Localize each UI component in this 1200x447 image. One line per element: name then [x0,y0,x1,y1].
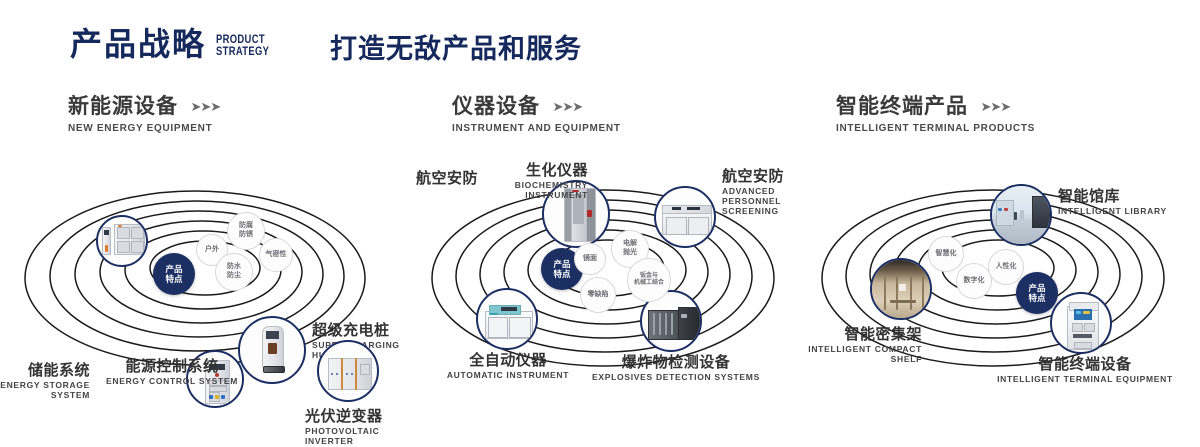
node-label-en: AUTOMATIC INSTRUMENT [428,371,588,381]
node-automatic-instrument[interactable] [476,288,538,350]
label-intelligent-terminal-equipment: 智能终端设备 INTELLIGENT TERMINAL EQUIPMENT [990,356,1180,385]
intelligent-library-image [992,186,1050,244]
label-energy-control-system: 能源控制系统 ENERGY CONTROL SYSTEM [78,358,266,387]
label-energy-storage-system: 储能系统 ENERGY STORAGE SYSTEM [0,362,90,401]
feature-bubble-sheetmetal-machining[interactable]: 钣金与 机械工结合 [627,258,671,302]
center-bubble-product-features[interactable]: 产品 特点 [153,253,195,295]
label-intelligent-library: 智能馆库 INTELLIGENT LIBRARY [1058,188,1186,217]
node-label-cn: 光伏逆变器 [305,408,425,425]
photovoltaic-inverter-image [319,342,377,400]
section-title-cn: 新能源设备 [68,95,178,118]
node-intelligent-terminal-equipment[interactable] [1050,292,1112,354]
node-label-cn: 全自动仪器 [428,352,588,369]
node-label-en: EXPLOSIVES DETECTION SYSTEMS [586,373,766,383]
feature-bubble-anticorrosion[interactable]: 防腐 防锈 [227,212,265,250]
page-title: 产品战略 [70,28,206,60]
node-intelligent-library[interactable] [990,184,1052,246]
node-intelligent-compact-shelf[interactable] [870,258,932,320]
section-title-intelligent-terminal: 智能终端产品 ➤➤➤ INTELLIGENT TERMINAL PRODUCTS [836,95,1035,134]
node-label-en: BIOCHEMISTRY INSTRUMENT [458,181,588,201]
diagram-intelligent-terminal: 智能馆库 INTELLIGENT LIBRARY 智能密集架 INTELLIGE… [800,150,1200,400]
node-energy-storage-system[interactable] [96,215,148,267]
feature-bubble-digitalization[interactable]: 数字化 [956,263,992,299]
node-advanced-personnel-screening[interactable] [654,186,716,248]
label-intelligent-compact-shelf: 智能密集架 INTELLIGENT COMPACT SHELF [794,326,922,365]
node-label-cn: 爆炸物检测设备 [586,354,766,371]
feature-bubble-humanization[interactable]: 人性化 [988,249,1024,285]
node-label-cn: 能源控制系统 [78,358,266,375]
chevron-triple-icon: ➤➤➤ [980,99,1010,115]
node-label-en: ENERGY STORAGE SYSTEM [0,381,90,401]
intelligent-compact-shelf-image [872,260,930,318]
section-title-instrument: 仪器设备 ➤➤➤ INSTRUMENT AND EQUIPMENT [452,95,621,134]
section-title-en: INTELLIGENT TERMINAL PRODUCTS [836,123,1035,134]
feature-bubble-intelligentization[interactable]: 智慧化 [928,236,964,272]
automatic-instrument-image [478,290,536,348]
node-label-en: INTELLIGENT TERMINAL EQUIPMENT [990,375,1180,385]
section-title-cn: 智能终端产品 [836,95,968,118]
node-label-cn: 智能终端设备 [990,356,1180,373]
label-explosives-detection-systems: 爆炸物检测设备 EXPLOSIVES DETECTION SYSTEMS [586,354,766,383]
feature-bubble-waterproof-dustproof[interactable]: 防水 防尘 [215,253,253,291]
section-title-en: INSTRUMENT AND EQUIPMENT [452,123,621,134]
section-title-en: NEW ENERGY EQUIPMENT [68,123,220,134]
chevron-triple-icon: ➤➤➤ [190,99,220,115]
chevron-triple-icon: ➤➤➤ [552,99,582,115]
node-label-cn: 生化仪器 [458,162,588,179]
node-photovoltaic-inverter[interactable] [317,340,379,402]
node-label-cn: 智能密集架 [794,326,922,343]
page-title-english: PRODUCT STRATEGY [216,34,269,58]
node-label-en: INTELLIGENT LIBRARY [1058,207,1186,217]
label-automatic-instrument: 全自动仪器 AUTOMATIC INSTRUMENT [428,352,588,381]
diagram-new-energy: 储能系统 ENERGY STORAGE SYSTEM 超级充电桩 SUPER C… [0,150,420,400]
label-photovoltaic-inverter: 光伏逆变器 PHOTOVOLTAIC INVERTER [305,408,425,447]
diagram-instrument: 航空安防 生化仪器 BIOCHEMISTRY INSTRUMENT [400,150,820,400]
page-subtitle: 打造无敌产品和服务 [330,36,582,63]
label-biochemistry-instrument: 生化仪器 BIOCHEMISTRY INSTRUMENT [458,162,588,201]
center-bubble-product-features[interactable]: 产品 特点 [1016,272,1058,314]
node-label-en: ENERGY CONTROL SYSTEM [78,377,266,387]
node-label-cn: 智能馆库 [1058,188,1186,205]
section-title-cn: 仪器设备 [452,95,540,118]
poster-canvas: 产品战略 PRODUCT STRATEGY 打造无敌产品和服务 新能源设备 ➤➤… [0,0,1200,422]
node-label-cn: 储能系统 [0,362,90,379]
advanced-personnel-screening-image [656,188,714,246]
node-label-en: INTELLIGENT COMPACT SHELF [794,345,922,365]
intelligent-terminal-equipment-image [1052,294,1110,352]
feature-bubble-airtightness[interactable]: 气密性 [259,238,293,272]
feature-bubble-mirror-finish[interactable]: 镜面 [574,243,606,275]
section-title-new-energy: 新能源设备 ➤➤➤ NEW ENERGY EQUIPMENT [68,95,220,134]
poster-header: 产品战略 PRODUCT STRATEGY [70,28,281,60]
node-label-en: PHOTOVOLTAIC INVERTER [305,427,425,447]
feature-bubble-zero-defect[interactable]: 零缺陷 [580,277,616,313]
energy-storage-system-image [98,217,146,265]
